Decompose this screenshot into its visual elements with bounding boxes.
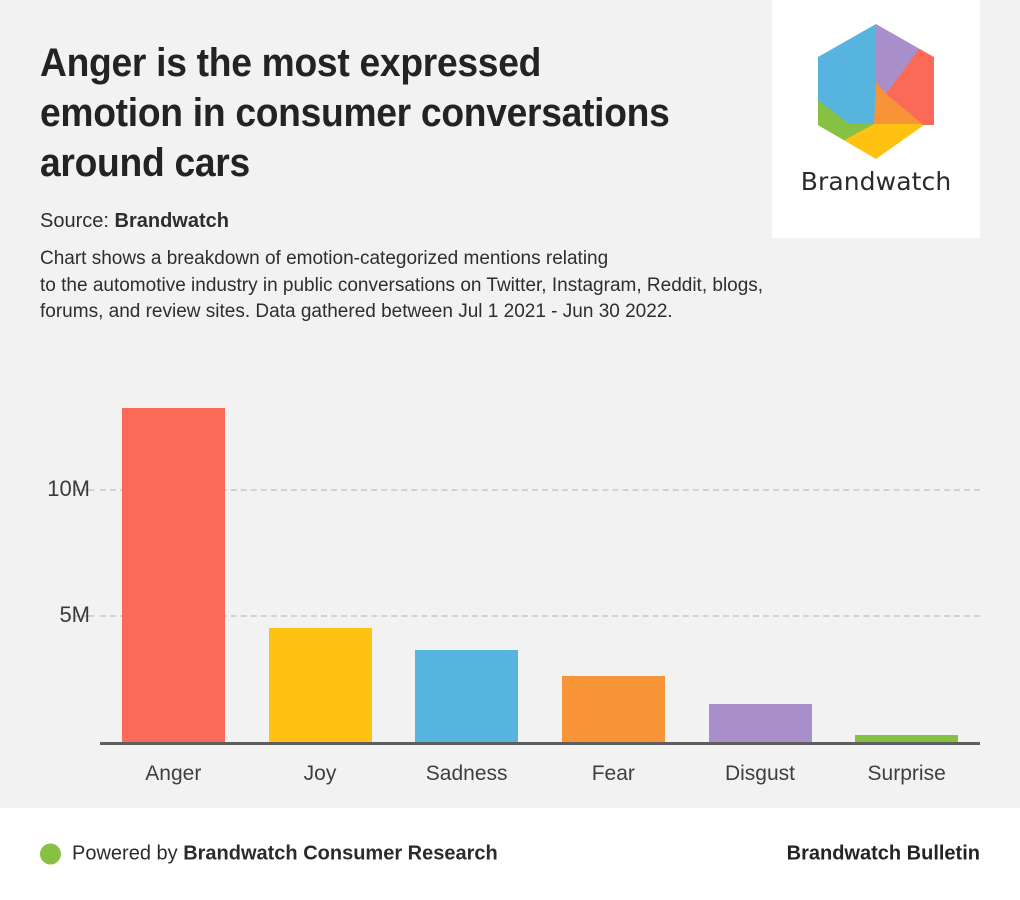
bar-sadness[interactable] <box>415 650 518 742</box>
y-axis-tick-label: 10M <box>30 476 90 502</box>
x-axis-label-anger: Anger <box>100 762 247 786</box>
x-axis-label-joy: Joy <box>247 762 394 786</box>
x-axis-label-fear: Fear <box>540 762 687 786</box>
powered-by-label: Powered by Brandwatch Consumer Research <box>72 843 498 866</box>
powered-by-block: Powered by Brandwatch Consumer Research <box>40 843 498 866</box>
bar-chart: 5M10MAngerJoySadnessFearDisgustSurprise <box>0 380 1020 800</box>
footer: Powered by Brandwatch Consumer Research … <box>0 808 1020 900</box>
x-axis-label-disgust: Disgust <box>687 762 834 786</box>
chart-plot-area: 5M10MAngerJoySadnessFearDisgustSurprise <box>100 390 980 742</box>
chart-description: Chart shows a breakdown of emotion-categ… <box>40 246 1000 326</box>
y-axis-tick-label: 5M <box>30 602 90 628</box>
bar-fear[interactable] <box>562 676 665 742</box>
gridline <box>100 489 980 491</box>
bulletin-label: Brandwatch Bulletin <box>787 843 980 866</box>
x-axis-label-surprise: Surprise <box>833 762 980 786</box>
bar-joy[interactable] <box>269 628 372 742</box>
brandwatch-wordmark: Brandwatch <box>801 167 952 196</box>
bar-surprise[interactable] <box>855 735 958 742</box>
source-line: Source: Brandwatch <box>40 208 732 234</box>
green-dot-icon <box>40 844 61 865</box>
page-title: Anger is the most expressed emotion in c… <box>40 38 684 188</box>
powered-by-prefix: Powered by <box>72 843 178 865</box>
bar-anger[interactable] <box>122 408 225 742</box>
header: Anger is the most expressed emotion in c… <box>0 0 772 326</box>
source-label: Source: <box>40 210 109 232</box>
brandwatch-hexagon-icon <box>816 24 936 159</box>
x-axis-line <box>100 742 980 745</box>
gridline <box>100 615 980 617</box>
bar-disgust[interactable] <box>709 704 812 742</box>
x-axis-label-sadness: Sadness <box>393 762 540 786</box>
brandwatch-logo-card: Brandwatch <box>772 0 980 238</box>
powered-by-brand: Brandwatch Consumer Research <box>183 843 498 865</box>
source-name: Brandwatch <box>115 210 229 232</box>
